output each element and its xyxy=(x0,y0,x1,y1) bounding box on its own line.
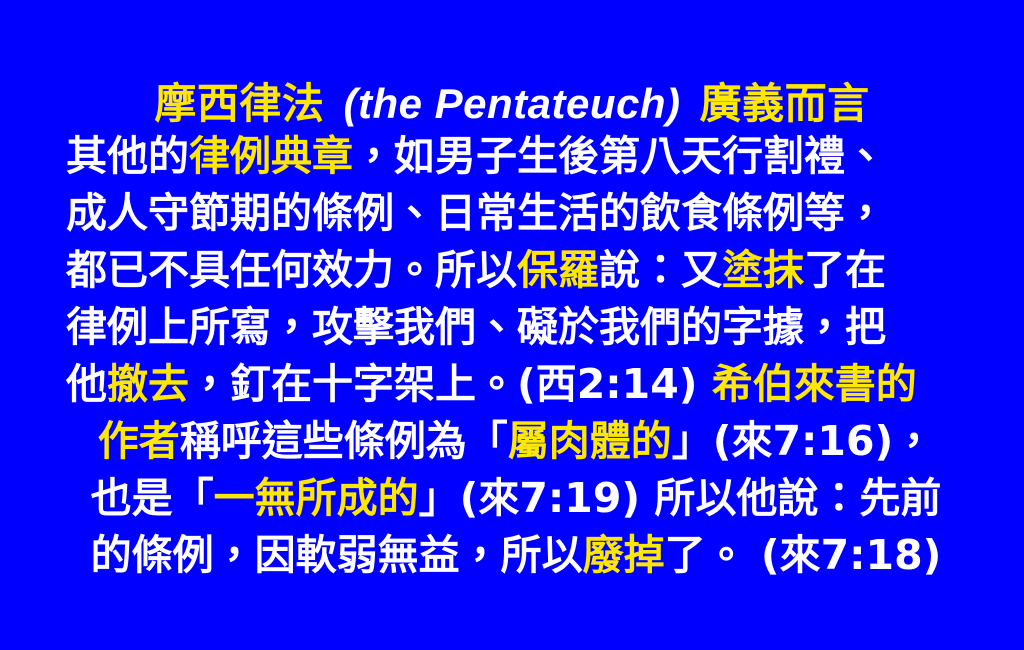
title-english: (the Pentateuch) xyxy=(339,80,684,127)
body-line-4: 律例上所寫，攻擊我們、礙於我們的字據，把 xyxy=(66,299,966,356)
title-chinese-right: 廣義而言 xyxy=(700,79,870,128)
body-line-6-segment-1: 作者 xyxy=(98,417,180,465)
body-line-8: 的條例，因軟弱無益，所以廢掉了。 (來7:18) xyxy=(66,527,966,584)
body-line-1-segment-3: ，如男子生後第八天行割禮、 xyxy=(353,132,886,180)
body-line-1: 其他的律例典章，如男子生後第八天行割禮、 xyxy=(66,128,966,185)
slide-title: 摩西律法 (the Pentateuch) 廣義而言 xyxy=(0,80,1024,127)
slide-body: 其他的律例典章，如男子生後第八天行割禮、 成人守節期的條例、日常生活的飲食條例等… xyxy=(66,128,966,584)
body-line-6: 作者稱呼這些條例為「屬肉體的」(來7:16)， xyxy=(66,413,966,470)
presentation-slide: 摩西律法 (the Pentateuch) 廣義而言 其他的律例典章，如男子生後… xyxy=(0,0,1024,650)
body-line-3-segment-2: 保羅 xyxy=(517,246,599,294)
body-line-3-segment-5: 了在 xyxy=(804,246,886,294)
body-line-5-segment-3: ，釘在十字架上。(西2:14) xyxy=(189,360,712,408)
body-line-6-segment-3: 屬肉體的 xyxy=(508,417,672,465)
body-line-4-segment-1: 律例上所寫，攻擊我們、礙於我們的字據，把 xyxy=(66,303,886,351)
body-line-5-segment-4: 希伯來書的 xyxy=(712,360,917,408)
body-line-2-segment-1: 成人守節期的條例、日常生活的飲食條例等， xyxy=(66,189,886,237)
body-line-6-segment-2: 稱呼這些條例為「 xyxy=(180,417,508,465)
body-line-8-segment-2: 廢掉 xyxy=(583,531,665,579)
body-line-8-segment-1: 的條例，因軟弱無益，所以 xyxy=(91,531,583,579)
body-line-5: 他撤去，釘在十字架上。(西2:14) 希伯來書的 xyxy=(66,356,966,413)
body-line-7-segment-3: 」(來7:19) 所以他說：先前 xyxy=(419,474,942,522)
body-line-7: 也是「一無所成的」(來7:19) 所以他說：先前 xyxy=(66,470,966,527)
body-line-1-segment-2: 律例典章 xyxy=(189,132,353,180)
body-line-3: 都已不具任何效力。所以保羅說：又塗抹了在 xyxy=(66,242,966,299)
body-line-3-segment-3: 說：又 xyxy=(599,246,722,294)
body-line-5-segment-2: 撤去 xyxy=(107,360,189,408)
body-line-3-segment-1: 都已不具任何效力。所以 xyxy=(66,246,517,294)
title-chinese-left: 摩西律法 xyxy=(154,79,324,128)
body-line-1-segment-1: 其他的 xyxy=(66,132,189,180)
body-line-8-segment-3: 了。 (來7:18) xyxy=(665,531,942,579)
body-line-7-segment-2: 一無所成的 xyxy=(214,474,419,522)
body-line-5-segment-1: 他 xyxy=(66,360,107,408)
body-line-2: 成人守節期的條例、日常生活的飲食條例等， xyxy=(66,185,966,242)
body-line-3-segment-4: 塗抹 xyxy=(722,246,804,294)
body-line-7-segment-1: 也是「 xyxy=(91,474,214,522)
body-line-6-segment-4: 」(來7:16)， xyxy=(672,417,934,465)
